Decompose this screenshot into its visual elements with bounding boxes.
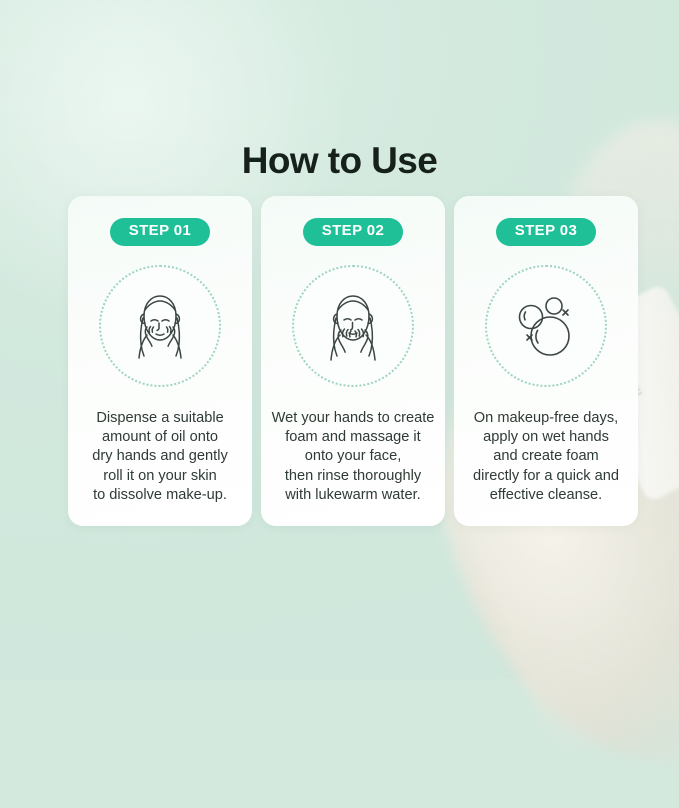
step-badge-3: STEP 03 [496,218,597,246]
step-badge-2: STEP 02 [303,218,404,246]
page-title: How to Use [0,140,679,182]
face-hands-cheeks-icon [99,265,221,387]
steps-container: STEP 01 [68,196,638,526]
step-card-3: STEP 03 On makeup-free days, apply on we… [454,196,638,526]
step-badge-1: STEP 01 [110,218,211,246]
face-hands-foam-icon [292,265,414,387]
bubbles-sparkle-icon [485,265,607,387]
step-card-2: STEP 02 [261,196,445,526]
step-card-1: STEP 01 [68,196,252,526]
step-text-2: Wet your hands to create foam and massag… [272,409,435,506]
step-text-3: On makeup-free days, apply on wet hands … [473,409,619,506]
step-text-1: Dispense a suitable amount of oil onto d… [92,409,228,506]
